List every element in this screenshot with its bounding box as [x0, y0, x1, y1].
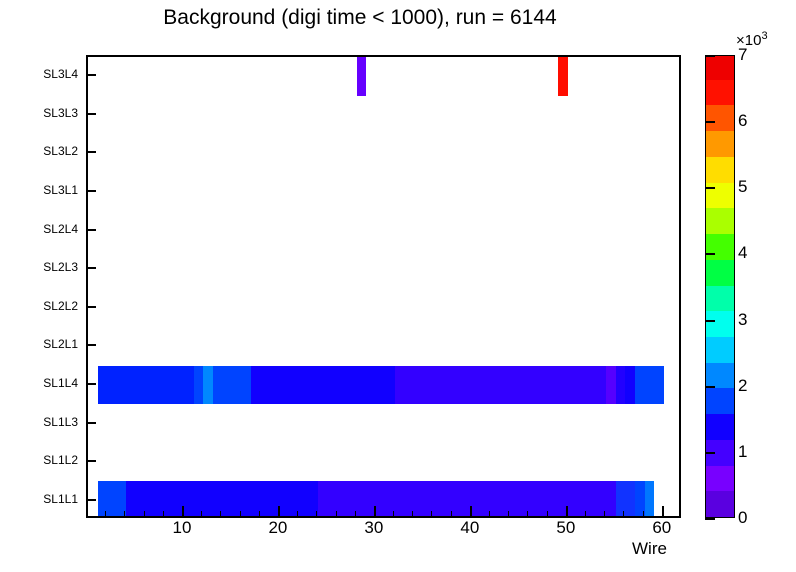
- heatmap-cell: [203, 366, 213, 405]
- color-scale-band: [706, 336, 734, 362]
- x-axis-minor-tick: [393, 511, 394, 518]
- heatmap-cell: [98, 366, 194, 405]
- color-scale-exponent-base: ×10: [736, 32, 761, 49]
- color-scale-exponent-power: 3: [761, 30, 767, 42]
- x-axis-minor-tick: [451, 511, 452, 518]
- color-scale-tick-mark: [705, 518, 715, 520]
- x-axis-minor-tick: [201, 511, 202, 518]
- color-scale-band: [706, 105, 734, 131]
- color-scale-band: [706, 491, 734, 517]
- y-axis-tick-label: SL1L3: [18, 415, 78, 429]
- x-axis-minor-tick: [431, 511, 432, 518]
- heatmap-cell: [126, 481, 318, 518]
- color-scale-tick-label: 0: [738, 508, 747, 528]
- x-axis-minor-tick: [355, 511, 356, 518]
- x-axis-minor-tick: [336, 511, 337, 518]
- x-axis-minor-tick: [240, 511, 241, 518]
- x-axis-major-tick: [374, 506, 376, 518]
- heatmap-cell: [194, 366, 204, 405]
- x-axis-minor-tick: [604, 511, 605, 518]
- x-axis-minor-tick: [124, 511, 125, 518]
- x-axis-tick-label: 50: [556, 518, 575, 538]
- color-scale-band: [706, 182, 734, 208]
- x-axis-major-tick: [278, 506, 280, 518]
- x-axis-minor-tick: [163, 511, 164, 518]
- y-axis-tick-label: SL1L4: [18, 376, 78, 390]
- x-axis-minor-tick: [316, 511, 317, 518]
- color-scale-tick-mark: [705, 452, 715, 454]
- x-axis-major-tick: [662, 506, 664, 518]
- color-scale-band: [706, 362, 734, 388]
- x-axis-minor-tick: [623, 511, 624, 518]
- color-scale-tick-mark: [705, 320, 715, 322]
- y-axis-tick-mark: [86, 460, 96, 462]
- color-scale-tick-label: 1: [738, 442, 747, 462]
- color-scale-tick-mark: [705, 187, 715, 189]
- y-axis-tick-label: SL3L2: [18, 144, 78, 158]
- x-axis-minor-tick: [259, 511, 260, 518]
- y-axis-tick-label: SL2L3: [18, 260, 78, 274]
- heatmap-cell: [395, 366, 606, 405]
- page-title: Background (digi time < 1000), run = 614…: [0, 6, 720, 30]
- heatmap-cell: [98, 481, 127, 518]
- y-axis-tick-mark: [86, 499, 96, 501]
- y-axis-tick-label: SL1L1: [18, 492, 78, 506]
- x-axis-minor-tick: [508, 511, 509, 518]
- x-axis-minor-tick: [527, 511, 528, 518]
- heatmap-cell: [213, 366, 251, 405]
- y-axis-tick-mark: [86, 74, 96, 76]
- heatmap-cell: [251, 366, 395, 405]
- y-axis-tick-label: SL2L1: [18, 337, 78, 351]
- color-scale-band: [706, 233, 734, 259]
- x-axis-minor-tick: [297, 511, 298, 518]
- x-axis-minor-tick: [547, 511, 548, 518]
- y-axis-tick-label: SL2L4: [18, 222, 78, 236]
- x-axis-minor-tick: [412, 511, 413, 518]
- color-scale-band: [706, 465, 734, 491]
- y-axis-tick-label: SL3L4: [18, 67, 78, 81]
- x-axis-major-tick: [566, 506, 568, 518]
- x-axis-minor-tick: [220, 511, 221, 518]
- x-axis-tick-label: 40: [460, 518, 479, 538]
- heatmap-plot-area[interactable]: [86, 55, 681, 518]
- x-axis-minor-tick: [105, 511, 106, 518]
- heatmap-cell: [625, 366, 635, 405]
- color-scale-band: [706, 285, 734, 311]
- heatmap-cell: [357, 57, 367, 96]
- color-scale-tick-label: 4: [738, 243, 747, 263]
- color-scale-tick-mark: [705, 386, 715, 388]
- color-scale-tick-label: 6: [738, 111, 747, 131]
- heatmap-cell: [616, 366, 626, 405]
- x-axis-minor-tick: [585, 511, 586, 518]
- x-axis-minor-tick: [489, 511, 490, 518]
- color-scale-tick-mark: [705, 55, 715, 57]
- color-scale-band: [706, 414, 734, 440]
- y-axis-tick-label: SL3L3: [18, 106, 78, 120]
- y-axis-tick-label: SL2L2: [18, 299, 78, 313]
- x-axis-tick-label: 60: [652, 518, 671, 538]
- y-axis-tick-mark: [86, 344, 96, 346]
- y-axis-labels: SL1L1SL1L2SL1L3SL1L4SL2L1SL2L2SL2L3SL2L4…: [14, 55, 78, 518]
- x-axis-tick-label: 10: [172, 518, 191, 538]
- x-axis-tick-label: 20: [268, 518, 287, 538]
- heatmap-cell: [318, 481, 616, 518]
- y-axis-tick-mark: [86, 229, 96, 231]
- color-scale-band: [706, 131, 734, 157]
- y-axis-tick-label: SL1L2: [18, 453, 78, 467]
- color-scale-tick-mark: [705, 121, 715, 123]
- color-scale-tick-label: 3: [738, 310, 747, 330]
- color-scale-tick-mark: [705, 253, 715, 255]
- color-scale-band: [706, 259, 734, 285]
- color-scale-band: [706, 208, 734, 234]
- color-scale-band: [706, 55, 734, 80]
- y-axis-tick-mark: [86, 267, 96, 269]
- y-axis-tick-mark: [86, 422, 96, 424]
- x-axis-minor-tick: [144, 511, 145, 518]
- x-axis-title: Wire: [632, 539, 667, 559]
- color-scale-band: [706, 388, 734, 414]
- x-axis-tick-label: 30: [364, 518, 383, 538]
- x-axis-major-tick: [182, 506, 184, 518]
- y-axis-tick-mark: [86, 113, 96, 115]
- color-scale-band: [706, 156, 734, 182]
- color-scale-tick-label: 5: [738, 177, 747, 197]
- y-axis-tick-mark: [86, 151, 96, 153]
- color-scale-band: [706, 311, 734, 337]
- root-canvas: Background (digi time < 1000), run = 614…: [0, 0, 796, 572]
- color-scale-bar[interactable]: [705, 55, 735, 518]
- color-scale-tick-label: 2: [738, 376, 747, 396]
- y-axis-tick-label: SL3L1: [18, 183, 78, 197]
- heatmap-cell: [558, 57, 568, 96]
- heatmap-cell: [645, 481, 655, 518]
- color-scale-exponent: ×103: [736, 30, 768, 49]
- heatmap-cell: [635, 366, 664, 405]
- y-axis-tick-mark: [86, 383, 96, 385]
- heatmap-cell: [616, 481, 635, 518]
- x-axis-minor-tick: [643, 511, 644, 518]
- y-axis-tick-mark: [86, 190, 96, 192]
- color-scale-band: [706, 79, 734, 105]
- y-axis-tick-mark: [86, 306, 96, 308]
- heatmap-cell: [606, 366, 616, 405]
- x-axis-major-tick: [470, 506, 472, 518]
